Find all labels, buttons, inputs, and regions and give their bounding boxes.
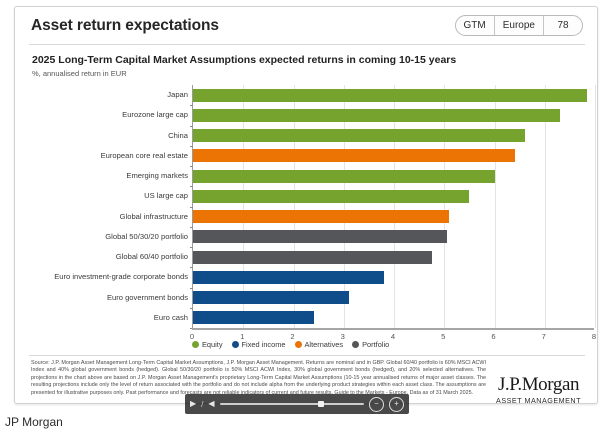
bar (193, 230, 447, 243)
category-label: Euro investment-grade corporate bonds (54, 268, 188, 286)
axis-tick (190, 267, 193, 268)
axis-tick (190, 166, 193, 167)
category-label: Global 60/40 portfolio (116, 248, 188, 266)
image-caption: JP Morgan (5, 415, 63, 429)
legend-item: Fixed income (232, 340, 286, 349)
legend-label: Fixed income (242, 340, 286, 349)
previous-icon[interactable]: ◀ (208, 400, 214, 408)
bar-chart: JapanEurozone large capChinaEuropean cor… (32, 85, 594, 335)
jpmorgan-logo: J.P.Morgan ASSET MANAGEMENT (496, 375, 581, 405)
legend-item: Alternatives (295, 340, 344, 349)
x-tick-label: 8 (592, 332, 596, 341)
category-label: US large cap (144, 187, 188, 205)
axis-tick (190, 308, 193, 309)
category-label: European core real estate (101, 147, 188, 165)
legend-item: Portfolio (352, 340, 389, 349)
axis-tick (190, 207, 193, 208)
gridline (595, 85, 596, 328)
plot-area (192, 85, 594, 328)
logo-tagline: ASSET MANAGEMENT (496, 396, 581, 405)
bar (193, 271, 384, 284)
category-label: Eurozone large cap (122, 106, 188, 124)
slide-card: Asset return expectations GTM Europe 78 … (14, 6, 598, 404)
legend-swatch-icon (232, 341, 239, 348)
x-axis-line (192, 328, 594, 330)
chart-subtitle: %, annualised return in EUR (32, 69, 127, 78)
chart-legend: EquityFixed incomeAlternativesPortfolio (192, 340, 389, 349)
separator-label: / (201, 400, 203, 409)
legend-swatch-icon (295, 341, 302, 348)
bar (193, 311, 314, 324)
zoom-out-icon[interactable]: − (369, 397, 384, 412)
bar (193, 149, 515, 162)
axis-tick (190, 247, 193, 248)
x-tick-label: 7 (542, 332, 546, 341)
bar (193, 291, 349, 304)
category-label: Japan (167, 86, 188, 104)
legend-label: Alternatives (305, 340, 344, 349)
bar (193, 170, 495, 183)
legend-label: Portfolio (362, 340, 389, 349)
media-control-bar[interactable]: ▶ / ◀ − + (185, 394, 409, 414)
bar (193, 210, 449, 223)
axis-tick (190, 227, 193, 228)
header-divider (29, 44, 585, 45)
legend-swatch-icon (192, 341, 199, 348)
card-header: Asset return expectations GTM Europe 78 (15, 7, 597, 44)
axis-tick (190, 186, 193, 187)
legend-swatch-icon (352, 341, 359, 348)
footnote-divider (29, 355, 585, 356)
bar (193, 129, 525, 142)
axis-tick (190, 288, 193, 289)
screenshot-root: Asset return expectations GTM Europe 78 … (0, 0, 611, 441)
legend-item: Equity (192, 340, 223, 349)
progress-slider[interactable] (220, 403, 364, 405)
category-label: Euro cash (154, 309, 188, 327)
category-label: Emerging markets (126, 167, 188, 185)
category-label: Global infrastructure (120, 208, 188, 226)
bar (193, 190, 469, 203)
badge-gtm: GTM (456, 16, 495, 35)
slider-knob[interactable] (318, 401, 324, 407)
badge-page-number: 78 (544, 16, 582, 35)
legend-label: Equity (202, 340, 223, 349)
category-axis: JapanEurozone large capChinaEuropean cor… (32, 85, 192, 328)
x-tick-label: 4 (391, 332, 395, 341)
zoom-in-icon[interactable]: + (389, 397, 404, 412)
badge-group: GTM Europe 78 (455, 15, 583, 36)
x-tick-label: 5 (441, 332, 445, 341)
category-label: Global 50/30/20 portfolio (105, 228, 188, 246)
logo-wordmark: J.P.Morgan (496, 375, 581, 395)
bar (193, 251, 432, 264)
bar (193, 109, 560, 122)
footnote-text: Source: J.P. Morgan Asset Management Lon… (31, 360, 486, 397)
axis-tick (190, 126, 193, 127)
play-icon[interactable]: ▶ (190, 400, 196, 408)
axis-tick (190, 146, 193, 147)
page-title: Asset return expectations (31, 17, 219, 35)
category-label: China (168, 127, 188, 145)
category-label: Euro government bonds (107, 289, 188, 307)
bar (193, 89, 587, 102)
axis-tick (190, 105, 193, 106)
badge-region: Europe (495, 16, 544, 35)
chart-title: 2025 Long-Term Capital Market Assumption… (32, 54, 456, 66)
x-tick-label: 6 (491, 332, 495, 341)
